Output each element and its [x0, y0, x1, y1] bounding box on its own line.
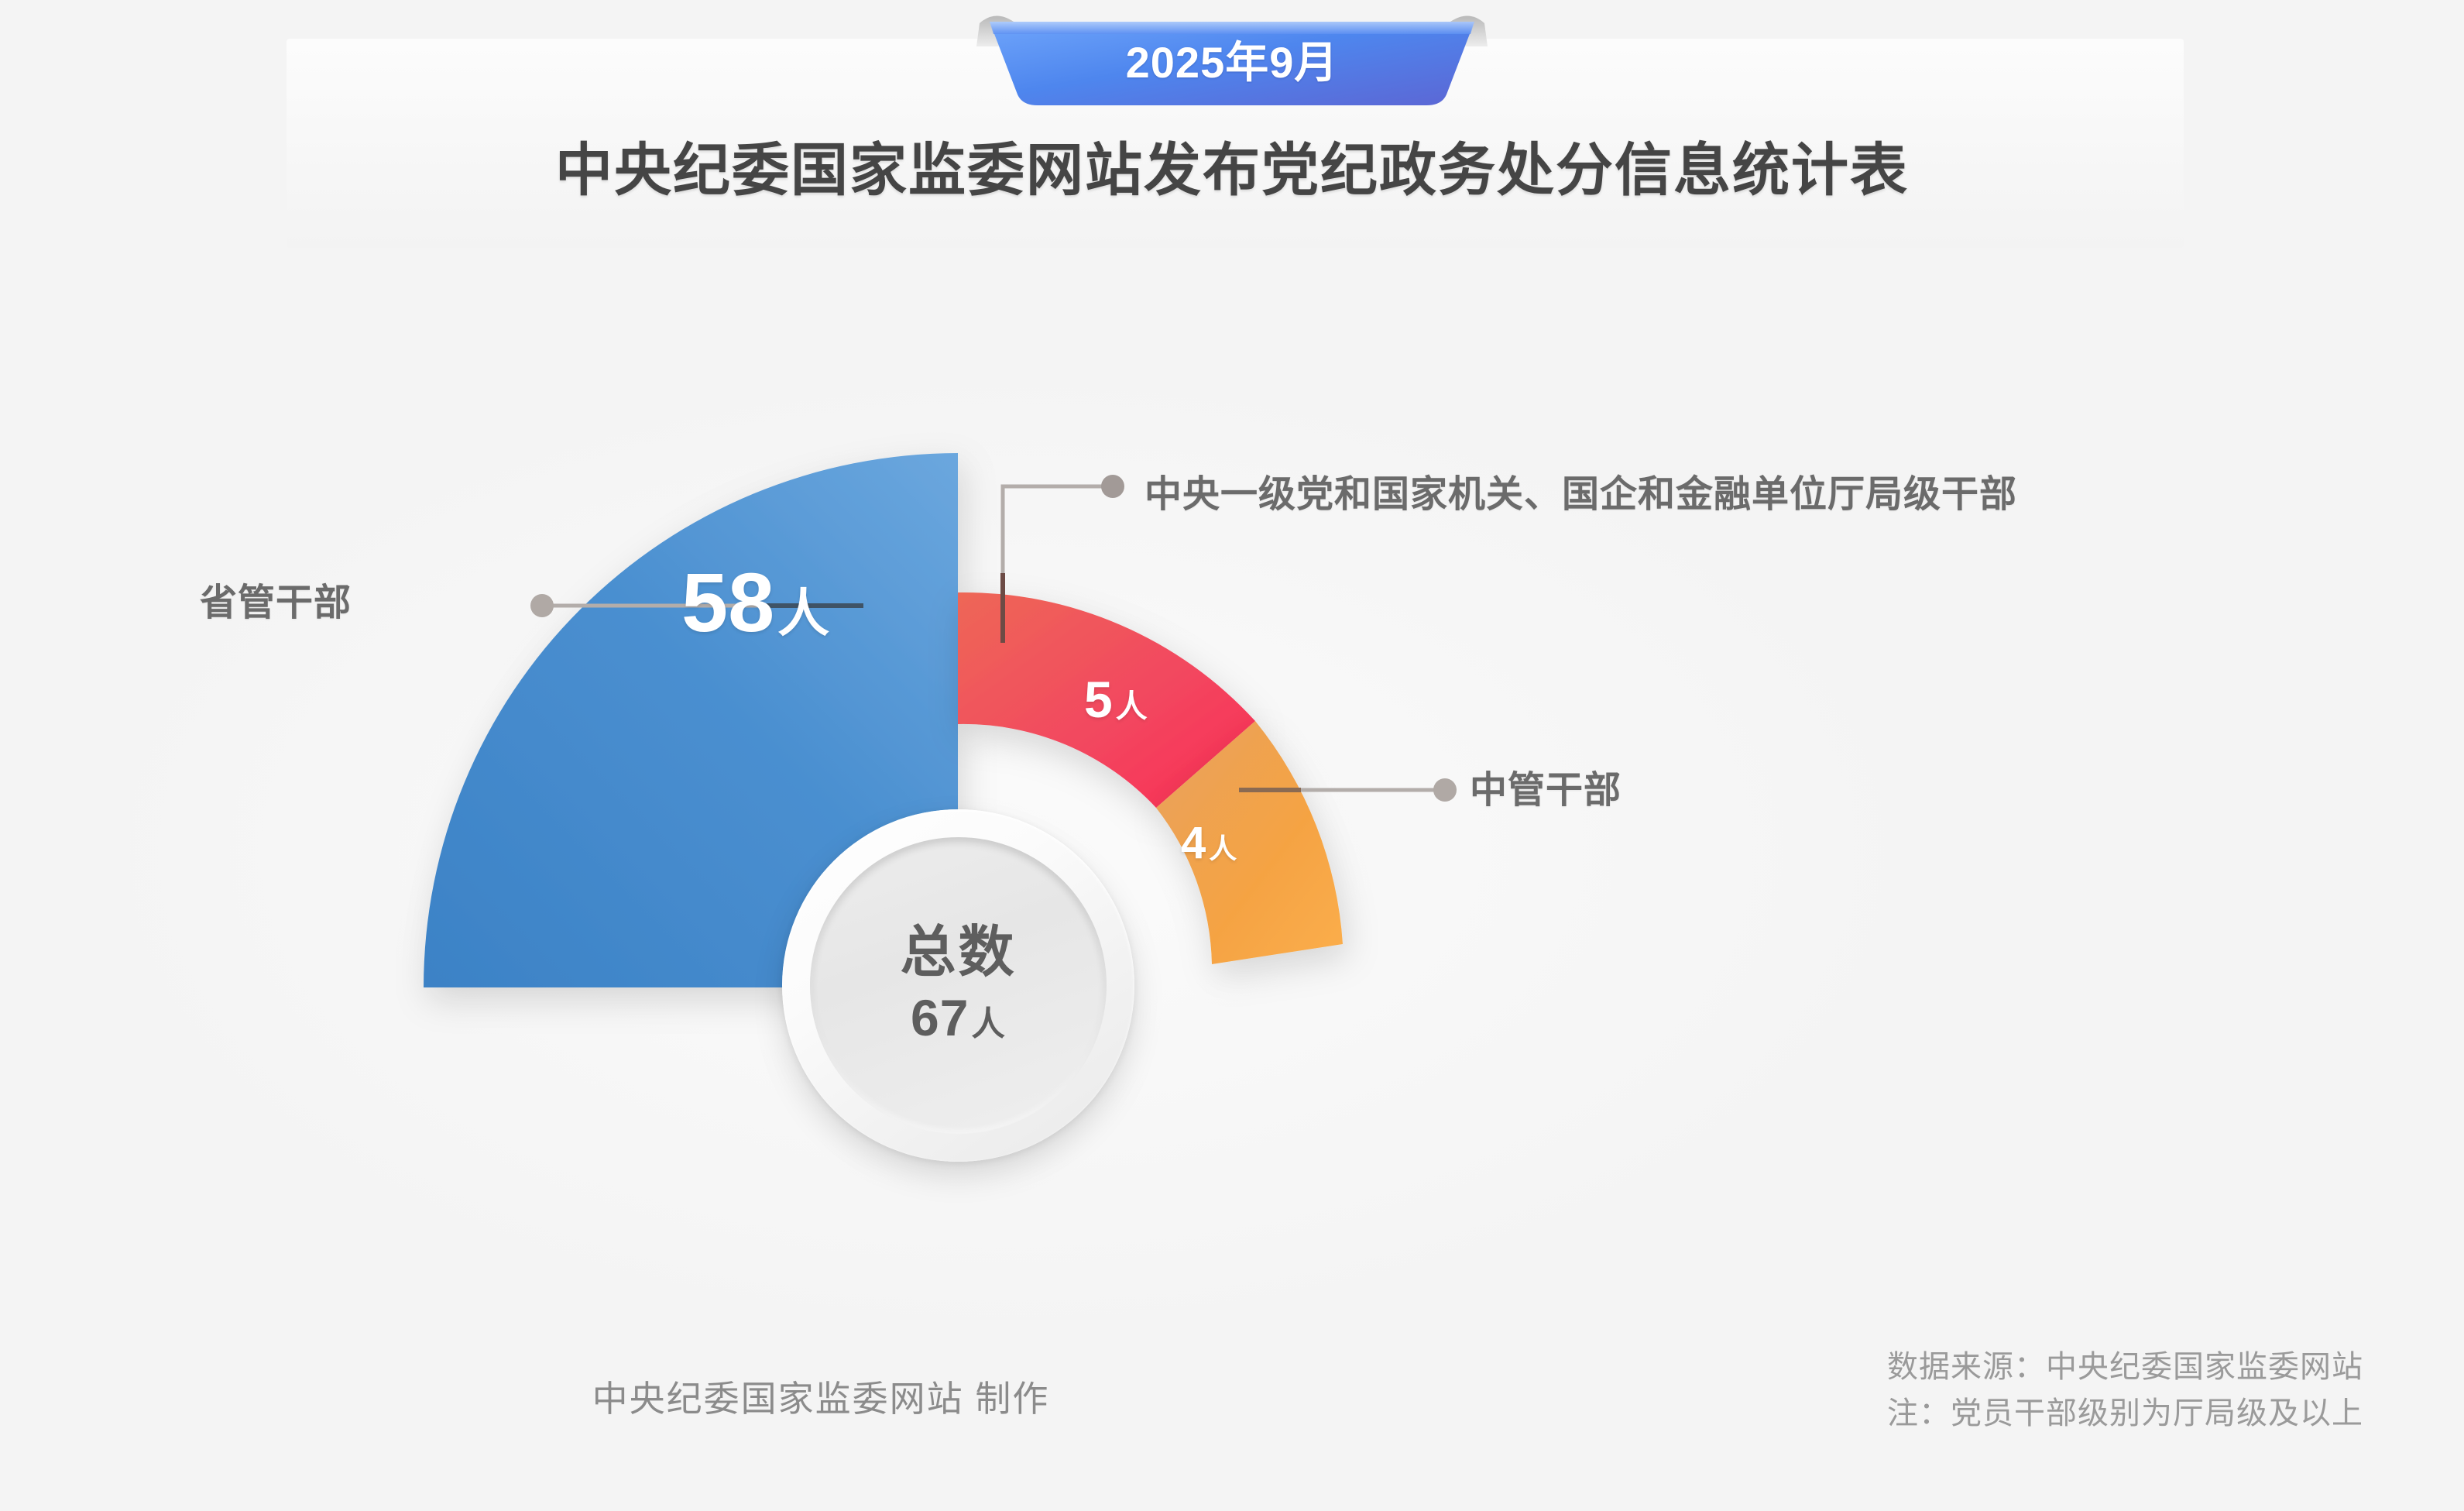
footnotes: 数据来源：中央纪委国家监委网站 注：党员干部级别为厅局级及以上 — [1887, 1344, 2363, 1437]
slice-value-red-number: 5 — [1084, 671, 1113, 728]
donut-center-text: 总数 67人 — [782, 809, 1134, 1162]
callout-label-central: 中央一级党和国家机关、国企和金融单位厅局级干部 — [1144, 463, 2017, 517]
leader-dot-province — [530, 594, 554, 617]
slice-value-blue-number: 58 — [681, 555, 774, 649]
callout-label-zhongguan: 中管干部 — [1470, 759, 1622, 813]
ribbon-badge-text: 2025年9月 — [1126, 28, 1339, 91]
ribbon-banner: 2025年9月 — [0, 8, 2464, 116]
leader-line-central — [1003, 475, 1124, 643]
slice-value-blue-unit: 人 — [777, 585, 829, 643]
slice-value-orange-number: 4 — [1181, 818, 1206, 868]
slice-value-orange: 4人 — [1181, 817, 1237, 869]
infographic-canvas: 2025年9月 中央纪委国家监委网站发布党纪政务处分信息统计表 — [0, 0, 2464, 1511]
total-value-unit: 人 — [971, 1006, 1006, 1043]
slice-value-red-unit: 人 — [1116, 689, 1148, 724]
slice-value-orange-unit: 人 — [1209, 833, 1237, 864]
total-value-number: 67 — [911, 989, 969, 1046]
leader-line-zhongguan — [1239, 778, 1457, 802]
slice-value-blue: 58人 — [681, 554, 829, 651]
maker-credit: 中央纪委国家监委网站 制作 — [0, 1371, 1642, 1422]
leader-dot-zhongguan — [1433, 778, 1457, 802]
leader-dot-central — [1101, 475, 1124, 498]
total-label: 总数 — [900, 924, 1016, 983]
page-title: 中央纪委国家监委网站发布党纪政务处分信息统计表 — [0, 124, 2464, 207]
level-note: 注：党员干部级别为厅局级及以上 — [1887, 1390, 2363, 1437]
callout-label-province: 省管干部 — [200, 572, 352, 626]
data-source-note: 数据来源：中央纪委国家监委网站 — [1887, 1344, 2363, 1390]
total-value: 67人 — [911, 988, 1006, 1047]
slice-value-red: 5人 — [1084, 670, 1148, 729]
